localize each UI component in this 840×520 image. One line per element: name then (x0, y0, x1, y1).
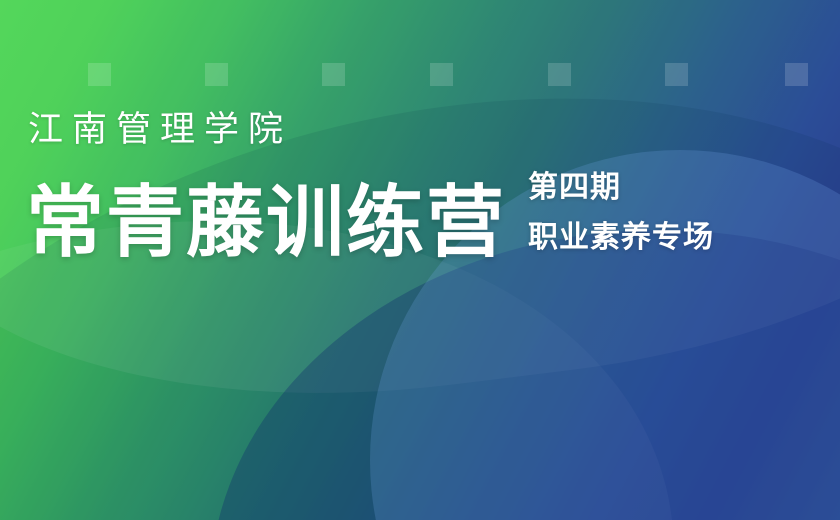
institution-name: 江南管理学院 (28, 112, 816, 147)
decorative-square-4 (430, 63, 453, 86)
banner-text-block: 江南管理学院 常青藤训练营 第四期 职业素养专场 (26, 112, 816, 259)
decorative-square-6 (665, 63, 688, 86)
decorative-square-1 (88, 63, 111, 86)
edition-label: 第四期 (528, 173, 714, 203)
decorative-square-row (0, 63, 840, 87)
decorative-square-7 (785, 63, 808, 86)
decorative-square-2 (205, 63, 228, 86)
track-label: 职业素养专场 (528, 223, 714, 253)
page-title: 常青藤训练营 (26, 186, 506, 259)
promo-banner: 江南管理学院 常青藤训练营 第四期 职业素养专场 (0, 0, 840, 520)
decorative-square-3 (322, 63, 345, 86)
title-row: 常青藤训练营 第四期 职业素养专场 (26, 173, 816, 259)
edition-block: 第四期 职业素养专场 (528, 173, 714, 259)
decorative-square-5 (548, 63, 571, 86)
decorative-swoosh-navy (210, 230, 840, 520)
